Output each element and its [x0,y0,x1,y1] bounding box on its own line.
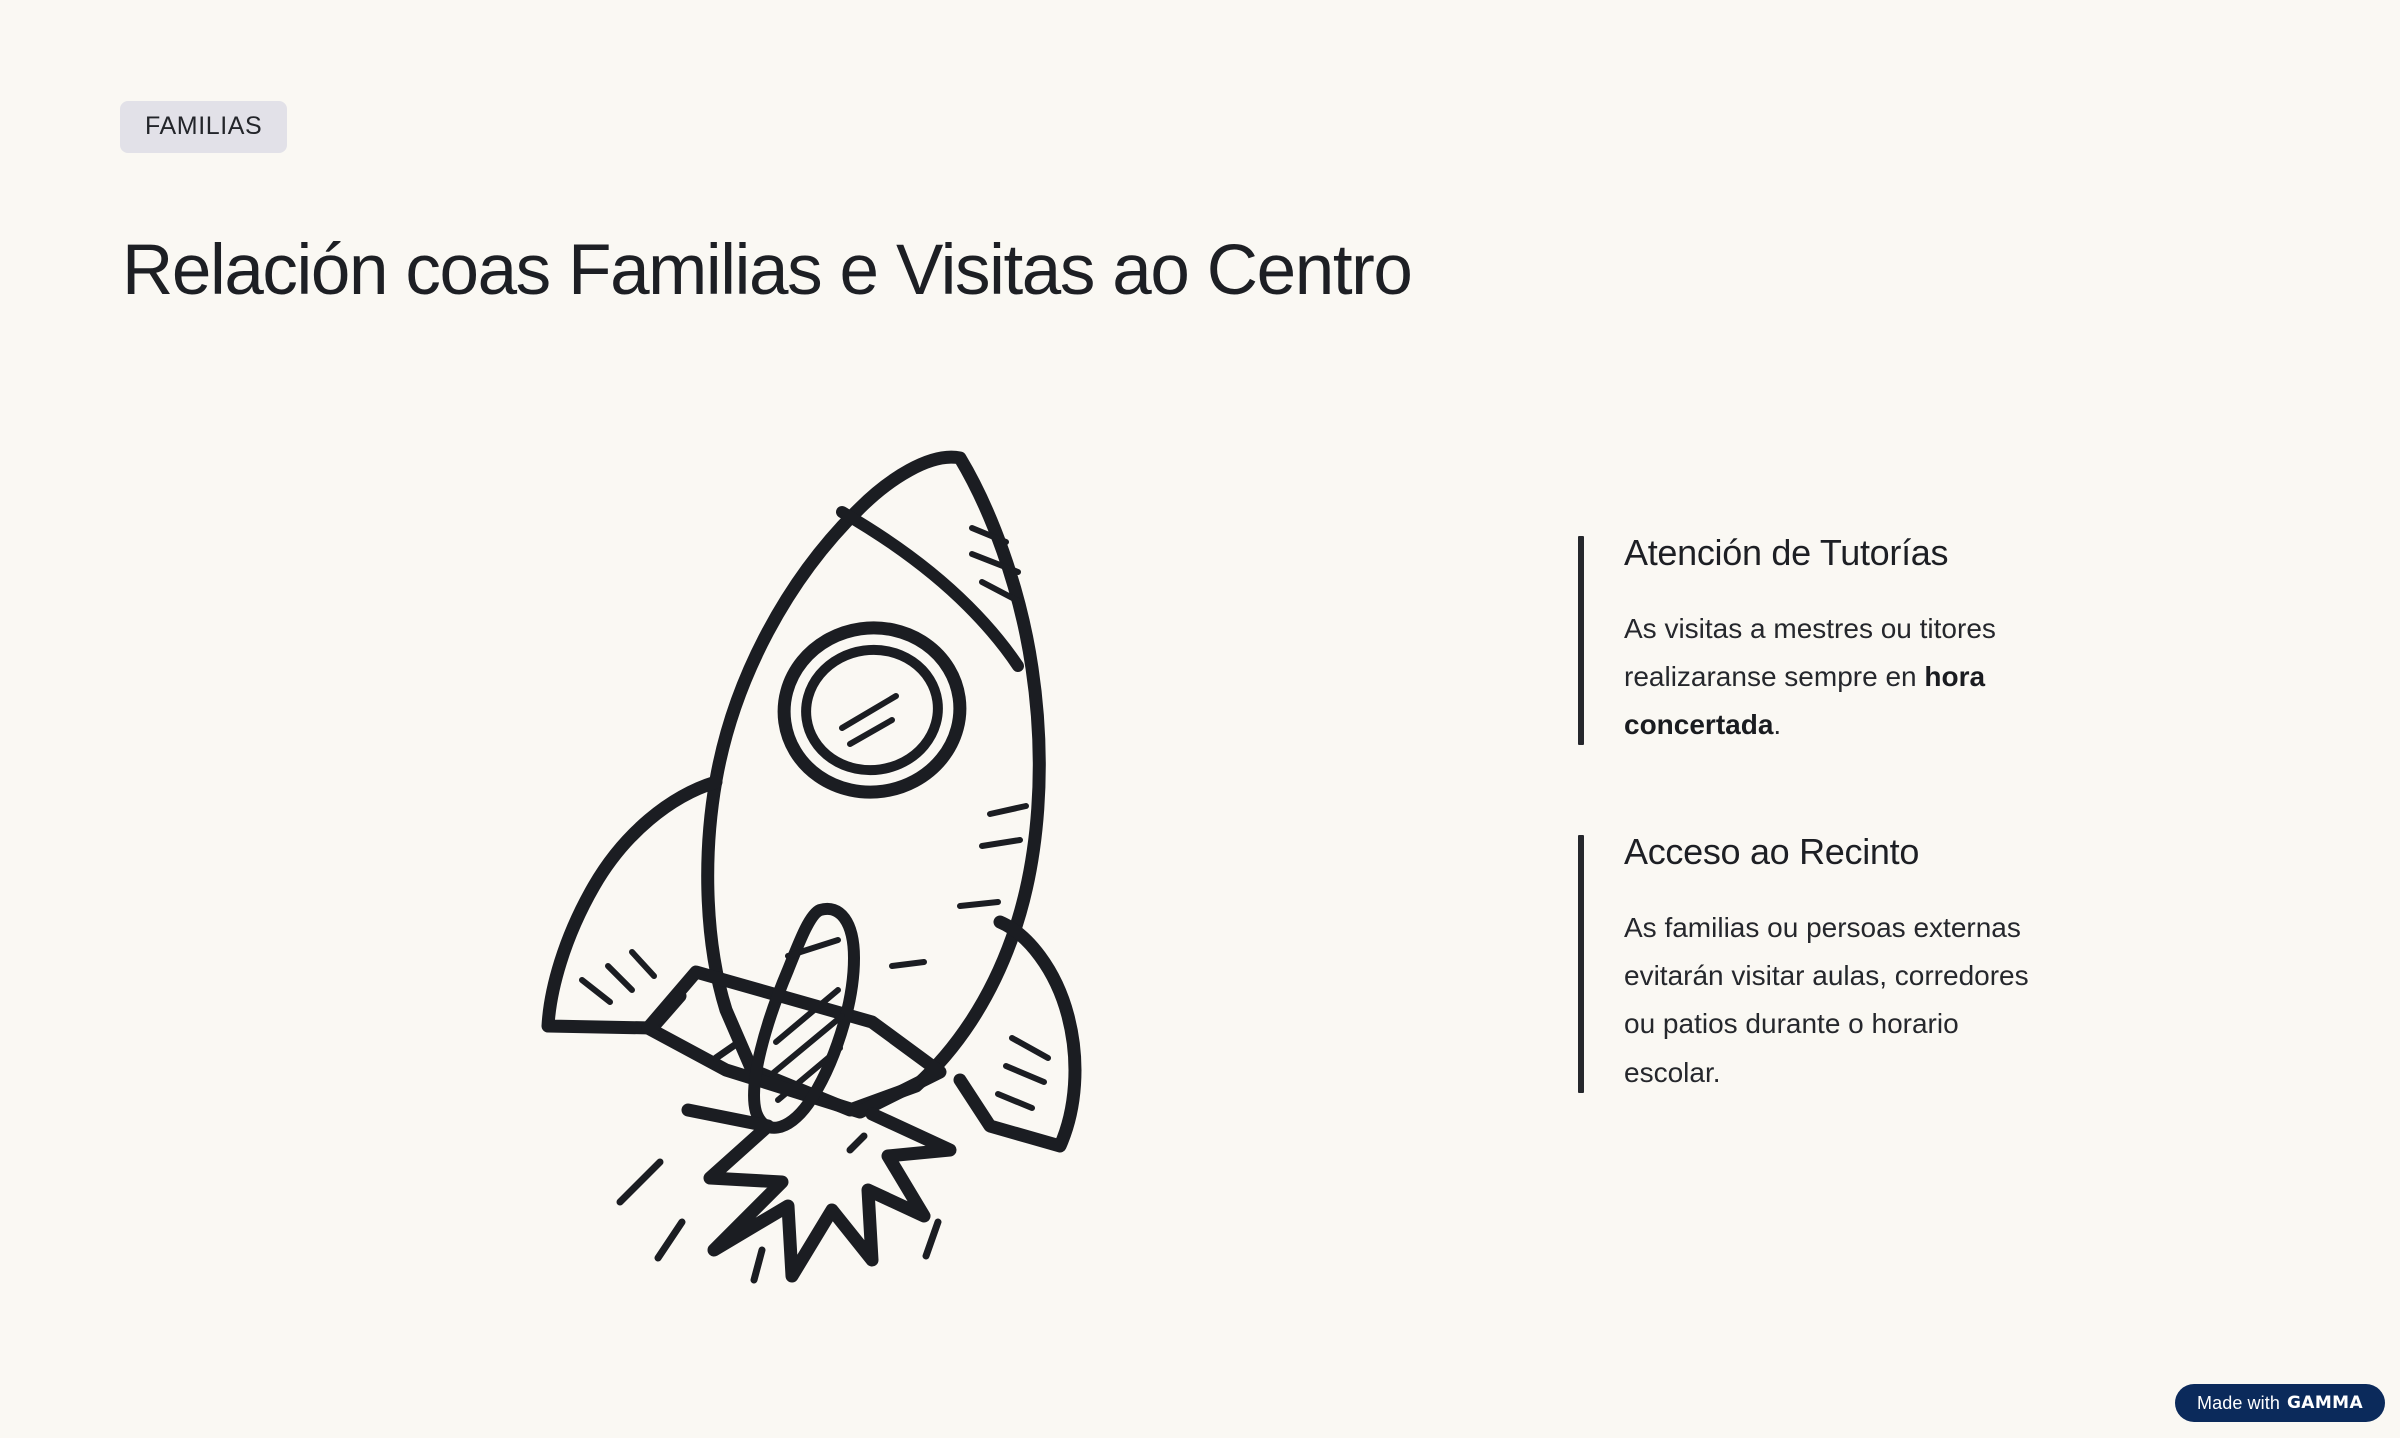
block-body: As visitas a mestres ou titores realizar… [1624,605,2054,749]
info-blocks: Atención de Tutorías As visitas a mestre… [1578,530,2278,1097]
page-title: Relación coas Familias e Visitas ao Cent… [122,231,1412,312]
info-block-tutorias: Atención de Tutorías As visitas a mestre… [1578,530,2278,749]
gamma-brand-wordmark: GAMMA [2287,1395,2363,1412]
engine-band [648,972,940,1112]
porthole-highlight [842,696,896,744]
accent-bar [1578,835,1584,1092]
body-text-leading: As familias ou persoas externas evitarán… [1624,912,2029,1087]
rocket-fin-right [960,922,1075,1146]
body-text-trailing: . [1773,709,1781,740]
block-heading: Atención de Tutorías [1624,530,2278,577]
fin-left-hatch [582,952,654,1002]
rocket-illustration [520,410,1100,1290]
fin-right-hatch [998,1038,1048,1108]
accent-bar [1578,536,1584,745]
gamma-badge-prefix: Made with [2197,1394,2280,1412]
info-block-acceso: Acceso ao Recinto As familias ou persoas… [1578,829,2278,1096]
category-badge: FAMILIAS [120,101,287,153]
rocket-flame [688,1110,950,1276]
block-body: As familias ou persoas externas evitarán… [1624,904,2054,1097]
slide-canvas: FAMILIAS Relación coas Familias e Visita… [0,0,2400,1438]
made-with-gamma-badge[interactable]: Made with GAMMA [2175,1384,2385,1422]
rocket-body [708,457,1040,1110]
block-heading: Acceso ao Recinto [1624,829,2278,876]
